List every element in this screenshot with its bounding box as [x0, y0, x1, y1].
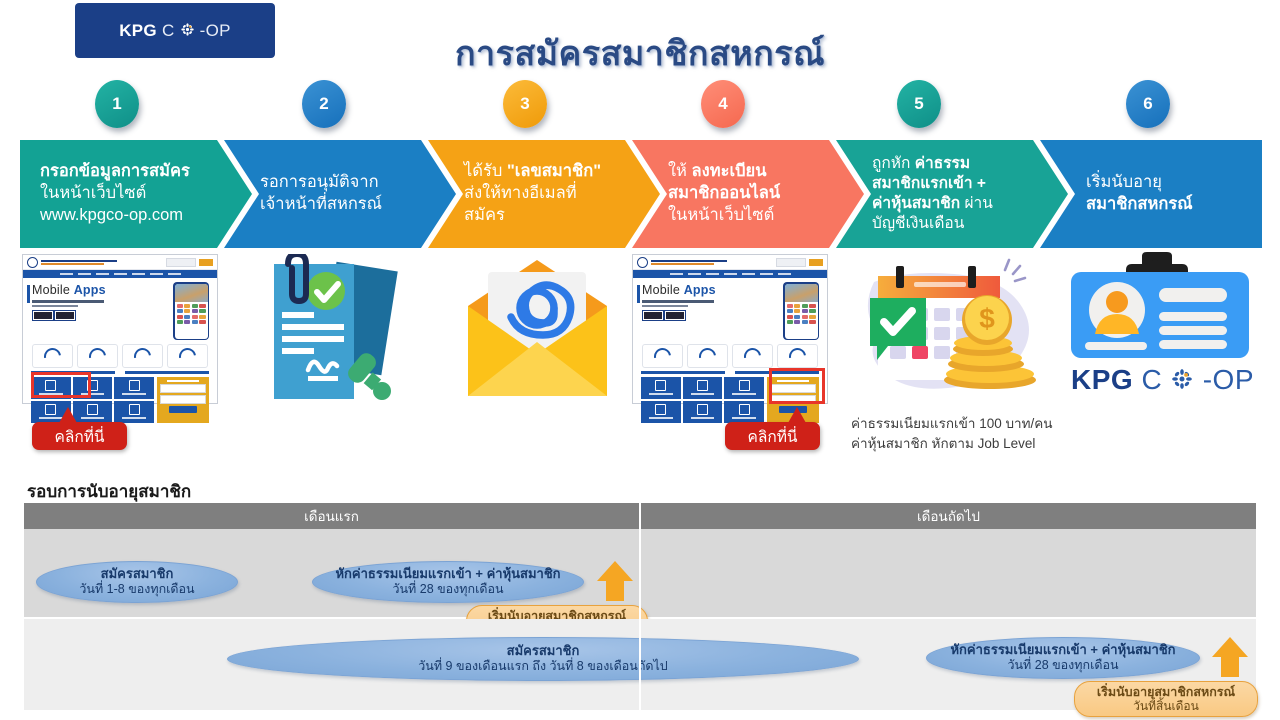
calendar-coins-illustration: $: [852, 252, 1042, 410]
site4-header-bar: [633, 255, 827, 270]
row1-bubble-register: สมัครสมาชิก วันที่ 1-8 ของทุกเดือน: [36, 561, 238, 603]
chevron-step-4: ให้ ลงทะเบียน สมาชิกออนไลน์ ในหน้าเว็บไซ…: [632, 140, 864, 248]
phone-banner-image-4: [785, 284, 818, 302]
service4-tile-6[interactable]: [724, 401, 764, 423]
row2-bubble-deduction-title: หักค่าธรรมเนียมแรกเข้า + ค่าหุ้นสมาชิก: [950, 643, 1175, 658]
hero-heading-bold: Apps: [74, 283, 106, 297]
click-here-callout-step1[interactable]: คลิกที่นี่: [32, 422, 127, 450]
timeline-table-header: เดือนแรก เดือนถัดไป: [24, 503, 1256, 529]
column-header-first-month: เดือนแรก: [24, 503, 639, 529]
chevron-5-line3-bold: ค่าหุ้นสมาชิก: [872, 195, 960, 212]
site-search-input[interactable]: [166, 258, 196, 267]
page-title: การสมัครสมาชิกสหกรณ์: [330, 26, 950, 80]
chevron-1-line1: กรอกข้อมูลการสมัคร: [40, 162, 190, 180]
click-here-label-4: คลิกที่นี่: [747, 424, 797, 449]
site4-logo-lines: [651, 260, 773, 265]
service4-tile-4[interactable]: [641, 401, 681, 423]
timeline-section-title: รอบการนับอายุสมาชิก: [27, 478, 191, 505]
phone-banner-image: [175, 284, 208, 302]
fee-note-line-1: ค่าธรรมเนียมแรกเข้า 100 บาท/คน: [851, 414, 1151, 434]
step-circle-6: 6: [1126, 80, 1170, 128]
chevron-4-line1: ให้: [668, 162, 687, 180]
chevron-1-line2: ในหน้าเว็บไซต์: [40, 183, 190, 205]
row2-bubble-register-title: สมัครสมาชิก: [507, 644, 580, 659]
row1-bubble-register-detail: วันที่ 1-8 ของทุกเดือน: [79, 582, 194, 597]
site-search-button[interactable]: [199, 259, 213, 266]
row2-up-arrow-icon: [1210, 635, 1250, 679]
site-hero-subline-1: [32, 300, 104, 303]
step-circle-2-label: 2: [319, 94, 328, 114]
step-circle-4: 4: [701, 80, 745, 128]
chevron-1-line3: www.kpgco-op.com: [40, 205, 190, 227]
id-logo-op: -OP: [1203, 364, 1254, 395]
chevron-5-line1-bold: ค่าธรรม: [915, 155, 970, 172]
row1-bubble-deduction-detail: วันที่ 28 ของทุกเดือน: [392, 582, 503, 597]
step-circle-3-label: 3: [520, 94, 529, 114]
row1-bubble-deduction-title: หักค่าธรรมเนียมแรกเข้า + ค่าหุ้นสมาชิก: [335, 567, 560, 582]
step-circle-6-label: 6: [1143, 94, 1152, 114]
service-tile-6[interactable]: [114, 401, 154, 423]
highlight-box-step1: [31, 372, 91, 398]
phone-screen-4: [785, 284, 818, 339]
phone-mockup: [173, 282, 209, 340]
chevron-5-line1: ถูกหัก: [872, 155, 910, 172]
site-header-bar: [23, 255, 217, 270]
timeline-column-divider: [639, 529, 641, 710]
row2-bubble-deduction-detail: วันที่ 28 ของทุกเดือน: [1007, 658, 1118, 673]
phone-icon-grid: [175, 302, 208, 327]
chevron-6-line1: เริ่มนับอายุ: [1086, 172, 1193, 194]
row2-pill-start-counting: เริ่มนับอายุสมาชิกสหกรณ์ วันที่สิ้นเดือน: [1074, 681, 1258, 717]
fee-note-line-2: ค่าหุ้นสมาชิก หักตาม Job Level: [851, 434, 1151, 454]
chevron-3-line1-bold: "เลขสมาชิก": [507, 162, 601, 180]
site4-nav-bar[interactable]: [633, 270, 827, 278]
step-circle-1-label: 1: [112, 94, 121, 114]
row1-up-arrow-icon: [595, 559, 635, 603]
chevron-step-2: รอการอนุมัติจาก เจ้าหน้าที่สหกรณ์: [224, 140, 456, 248]
service4-tile-3[interactable]: [724, 377, 764, 399]
timeline-table: เดือนแรก เดือนถัดไป สมัครสมาชิก วันที่ 1…: [24, 503, 1256, 710]
chevron-6-line2-bold: สมาชิกสหกรณ์: [1086, 195, 1193, 213]
email-illustration: [460, 258, 615, 403]
site4-feature-arcs: [633, 342, 827, 368]
chevron-3-line3: สมัคร: [464, 205, 601, 227]
row1-bubble-register-title: สมัครสมาชิก: [101, 567, 174, 582]
click-here-label-1: คลิกที่นี่: [54, 424, 104, 449]
hero4-heading-bold: Apps: [684, 283, 716, 297]
phone-screen: [175, 284, 208, 339]
service4-tile-1[interactable]: [641, 377, 681, 399]
logo-co-text: C: [162, 21, 175, 40]
infographic-root: KPG C: [0, 0, 1280, 720]
step-circle-3: 3: [503, 80, 547, 128]
fee-note: ค่าธรรมเนียมแรกเข้า 100 บาท/คน ค่าหุ้นสม…: [851, 414, 1151, 455]
id-logo-kpg: KPG: [1071, 364, 1133, 395]
phone-mockup-4: [783, 282, 819, 340]
logo-kpg-text: KPG: [119, 21, 157, 40]
site4-search-button[interactable]: [809, 259, 823, 266]
chevron-2-line2: เจ้าหน้าที่สหกรณ์: [260, 194, 382, 216]
chevron-4-line2-bold: สมาชิกออนไลน์: [668, 184, 780, 202]
chevron-5-line2-bold: สมาชิกแรกเข้า +: [872, 175, 986, 192]
site-logo-lines: [41, 260, 163, 265]
app-store-badges-4[interactable]: [642, 310, 686, 321]
site-logo-icon: [27, 257, 38, 268]
site4-search-input[interactable]: [776, 258, 806, 267]
process-chevron-band: กรอกข้อมูลการสมัคร ในหน้าเว็บไซต์ www.kp…: [20, 140, 1262, 248]
row2-bubble-register-detail: วันที่ 9 ของเดือนแรก ถึง วันที่ 8 ของเดื…: [418, 659, 667, 674]
chevron-step-3: ได้รับ "เลขสมาชิก" ส่งให้ทางอีเมลที่ สมั…: [428, 140, 660, 248]
logo-op-text: -OP: [200, 21, 231, 40]
phone-icon-grid-4: [785, 302, 818, 327]
kpg-coop-logo-badge: KPG C: [75, 3, 275, 58]
service-tile-5[interactable]: [73, 401, 113, 423]
site4-service-tiles[interactable]: [641, 377, 764, 423]
chevron-3-line2: ส่งให้ทางอีเมลที่: [464, 183, 601, 205]
chevron-4-line1-bold: ลงทะเบียน: [692, 162, 767, 180]
step-circle-1: 1: [95, 80, 139, 128]
chevron-step-6: เริ่มนับอายุ สมาชิกสหกรณ์: [1040, 140, 1262, 248]
hero-heading-plain: Mobile: [32, 283, 74, 297]
step-circle-2: 2: [302, 80, 346, 128]
step-number-circles: 1 2 3 4 5 6: [0, 80, 1280, 130]
click-here-callout-step4[interactable]: คลิกที่นี่: [725, 422, 820, 450]
svg-text:$: $: [979, 303, 995, 334]
site4-hero-subline-2: [642, 305, 688, 308]
document-signed-illustration: [260, 254, 410, 409]
site-feature-arcs: [23, 342, 217, 368]
id-card-wordmark: KPG C: [1065, 364, 1260, 396]
flower-star-icon: [180, 22, 195, 42]
logo-wordmark: KPG C: [119, 21, 231, 41]
id-logo-co: C: [1141, 364, 1162, 395]
step-circle-5-label: 5: [914, 94, 923, 114]
chevron-step-1: กรอกข้อมูลการสมัคร ในหน้าเว็บไซต์ www.kp…: [20, 140, 252, 248]
row2-bubble-register: สมัครสมาชิก วันที่ 9 ของเดือนแรก ถึง วัน…: [227, 637, 859, 681]
site-hero-section: Mobile Apps: [23, 278, 217, 342]
site-nav-bar[interactable]: [23, 270, 217, 278]
column-header-next-month: เดือนถัดไป: [641, 503, 1256, 529]
app-store-badges[interactable]: [32, 310, 76, 321]
chevron-step-5: ถูกหัก ค่าธรรม สมาชิกแรกเข้า + ค่าหุ้นสม…: [836, 140, 1068, 248]
site4-logo-icon: [637, 257, 648, 268]
chevron-4-line3: ในหน้าเว็บไซต์: [668, 205, 780, 227]
row2-bubble-deduction: หักค่าธรรมเนียมแรกเข้า + ค่าหุ้นสมาชิก ว…: [926, 637, 1200, 679]
row2-pill-detail: วันที่สิ้นเดือน: [1133, 699, 1199, 713]
site4-hero-subline-1: [642, 300, 714, 303]
highlight-box-step4: [769, 368, 825, 404]
row1-bubble-deduction: หักค่าธรรมเนียมแรกเข้า + ค่าหุ้นสมาชิก ว…: [312, 561, 584, 603]
service4-tile-5[interactable]: [683, 401, 723, 423]
chevron-5-line3-tail: ผ่าน: [960, 195, 993, 212]
flower-star-icon-id: [1170, 366, 1194, 398]
chevron-2-line1: รอการอนุมัติจาก: [260, 172, 382, 194]
hero4-heading-plain: Mobile: [642, 283, 684, 297]
chevron-5-line4: บัญชีเงินเดือน: [872, 214, 993, 234]
service4-tile-2[interactable]: [683, 377, 723, 399]
service-tile-3[interactable]: [114, 377, 154, 399]
site-hero-subline-2: [32, 305, 78, 308]
chevron-3-line1: ได้รับ: [464, 162, 502, 180]
site-login-box[interactable]: [157, 377, 209, 423]
id-card-illustration: KPG C: [1065, 252, 1260, 412]
site4-hero-section: Mobile Apps: [633, 278, 827, 342]
step-circle-4-label: 4: [718, 94, 727, 114]
step-circle-5: 5: [897, 80, 941, 128]
row2-pill-title: เริ่มนับอายุสมาชิกสหกรณ์: [1097, 685, 1235, 699]
chevron-step-1-text: กรอกข้อมูลการสมัคร ในหน้าเว็บไซต์ www.kp…: [20, 161, 190, 226]
